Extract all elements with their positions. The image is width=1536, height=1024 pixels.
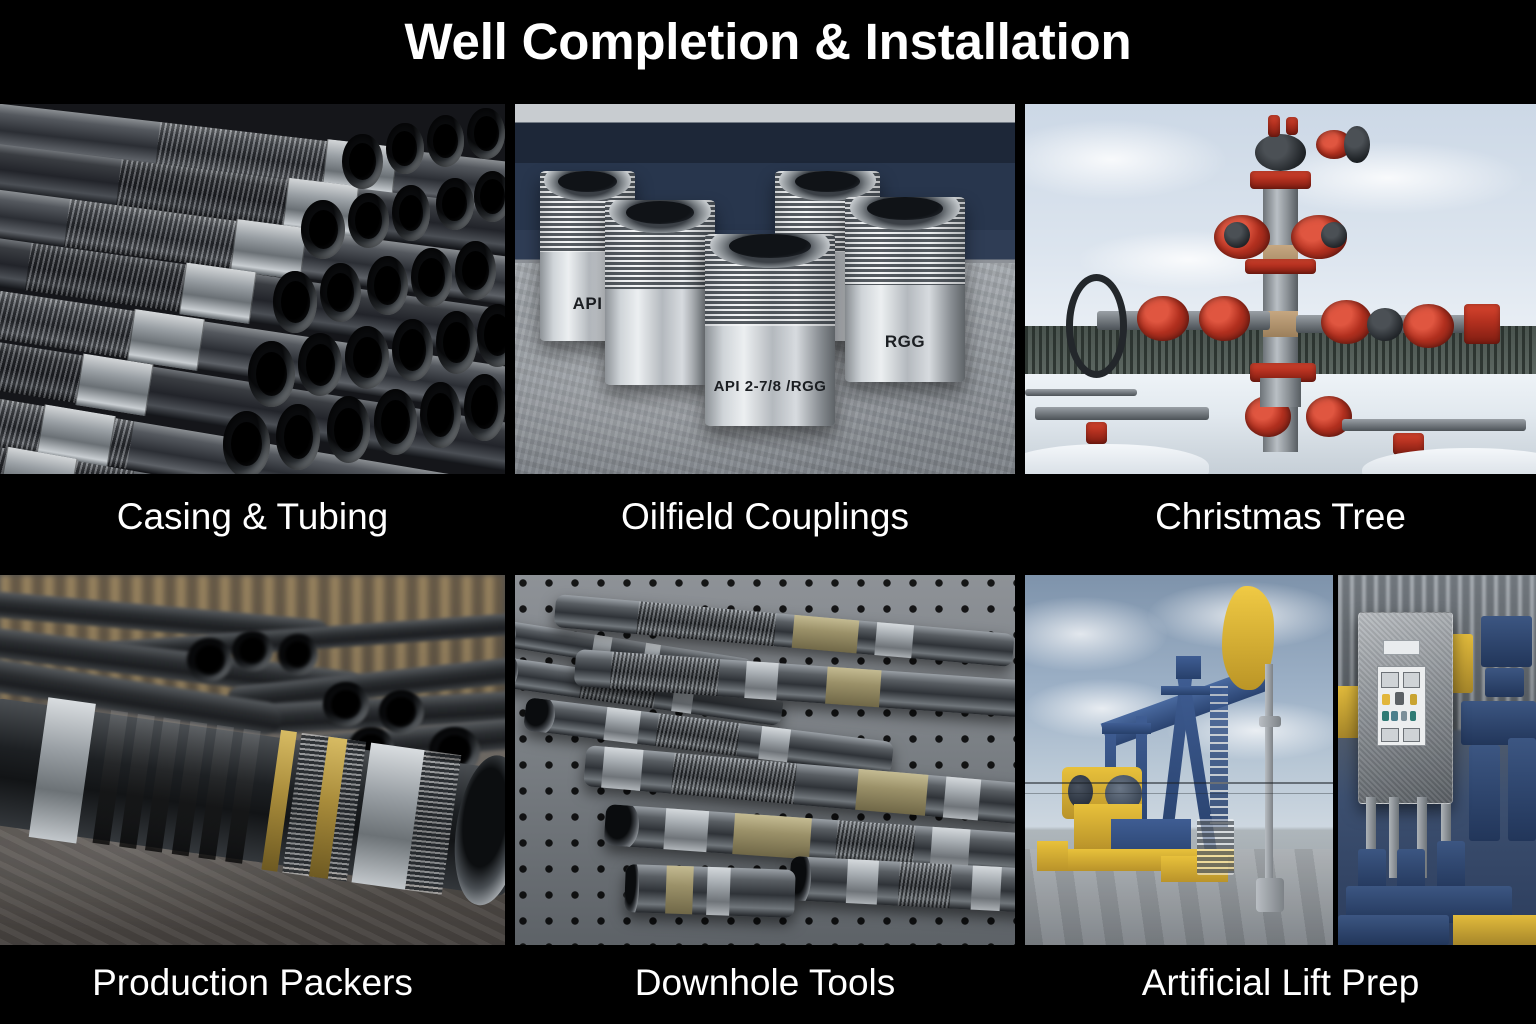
downhole-tools-photo [515,575,1015,945]
caption-christmas-tree: Christmas Tree [1025,498,1536,544]
caption-casing-tubing: Casing & Tubing [0,498,505,544]
control-panel-photo [1338,575,1536,945]
tile-casing-tubing[interactable] [0,104,505,474]
polished-rod [1265,664,1272,886]
oilfield-couplings-photo: API RGG API 2-7/8 /RGG [515,104,1015,474]
tile-artificial-lift-control-panel[interactable] [1338,575,1536,945]
tile-oilfield-couplings[interactable]: API RGG API 2-7/8 /RGG [515,104,1015,474]
caption-artificial-lift-prep: Artificial Lift Prep [1025,964,1536,1010]
production-packers-photo [0,575,505,945]
pipe-bores [192,104,505,474]
coupling-right: RGG [845,197,965,382]
caption-oilfield-couplings: Oilfield Couplings [515,498,1015,544]
page-title: Well Completion & Installation [0,14,1536,70]
tile-christmas-tree[interactable] [1025,104,1536,474]
tile-production-packers[interactable] [0,575,505,945]
caption-production-packers: Production Packers [0,964,505,1010]
tile-artificial-lift-pumpjack[interactable] [1025,575,1333,945]
handwheel-left [1066,274,1127,378]
control-cabinet[interactable] [1358,612,1453,804]
coupling-mid-left [605,200,715,385]
caption-downhole-tools: Downhole Tools [515,964,1015,1010]
christmas-tree-photo [1025,104,1536,474]
instrument-faceplate [1377,666,1425,746]
nameplate [1383,640,1420,655]
poster-root: Well Completion & Installation [0,0,1536,1024]
pumpjack-photo [1025,575,1333,945]
casing-tubing-photo [0,104,505,474]
coupling-front: API 2-7/8 /RGG [705,234,835,426]
coupling-marking-api-278-rgg: API 2-7/8 /RGG [705,378,835,395]
tile-downhole-tools[interactable] [515,575,1015,945]
coupling-marking-rgg: RGG [845,332,965,352]
